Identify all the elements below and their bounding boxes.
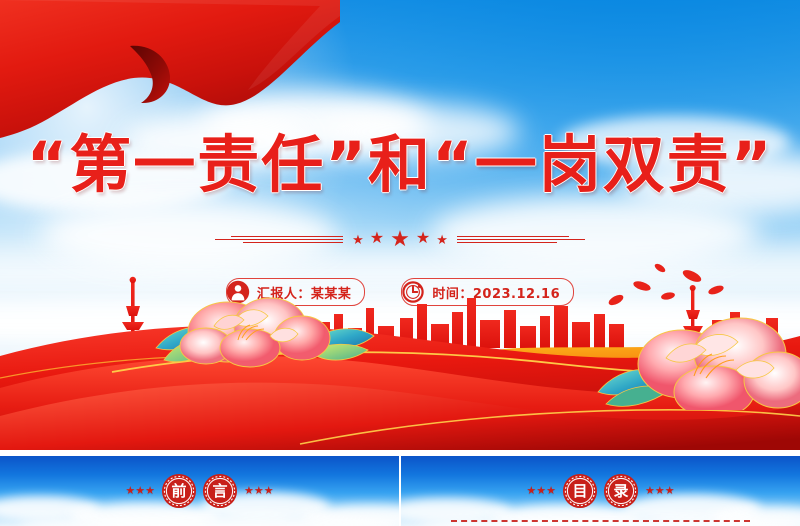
seal-icon: 前 <box>162 474 196 508</box>
thumbnail-foreword[interactable]: ★★★ 前 <box>0 456 399 526</box>
seal-icon: 录 <box>604 474 638 508</box>
presentation-preview: “第一责任”和“一岗双责” ★ ★ ★ ★ ★ <box>0 0 800 526</box>
stars-right: ★★★ <box>645 486 675 497</box>
star-icon: ★ <box>390 228 410 250</box>
seal-char: 录 <box>613 484 628 499</box>
seal-char: 前 <box>171 484 186 499</box>
star-icon: ★ <box>370 231 384 247</box>
divider-rules-right <box>457 236 585 243</box>
falling-petals <box>600 260 740 320</box>
seal-icon: 目 <box>563 474 597 508</box>
title-slide[interactable]: “第一责任”和“一岗双责” ★ ★ ★ ★ ★ <box>0 0 800 450</box>
contents-title-group: ★★★ 目 <box>401 474 800 508</box>
page-title: “第一责任”和“一岗双责” <box>0 132 800 197</box>
thumbnail-contents[interactable]: ★★★ 目 <box>401 456 800 526</box>
seal-char: 目 <box>572 484 587 499</box>
slide-thumbnail-strip: ★★★ 前 <box>0 456 800 526</box>
scenery <box>0 260 800 450</box>
divider-rules-left <box>215 236 343 243</box>
dashed-separator <box>451 520 750 522</box>
stars-right: ★★★ <box>244 486 274 497</box>
stars-left: ★★★ <box>526 486 556 497</box>
star-divider: ★ ★ ★ ★ ★ <box>0 226 800 252</box>
star-icon: ★ <box>416 231 430 247</box>
divider-stars: ★ ★ ★ ★ ★ <box>352 228 448 250</box>
seal-icon: 言 <box>203 474 237 508</box>
star-icon: ★ <box>436 233 448 246</box>
stars-left: ★★★ <box>125 486 155 497</box>
star-icon: ★ <box>352 233 364 246</box>
seal-char: 言 <box>212 484 227 499</box>
foreword-title-group: ★★★ 前 <box>0 474 399 508</box>
peony-flowers-left <box>150 282 380 372</box>
